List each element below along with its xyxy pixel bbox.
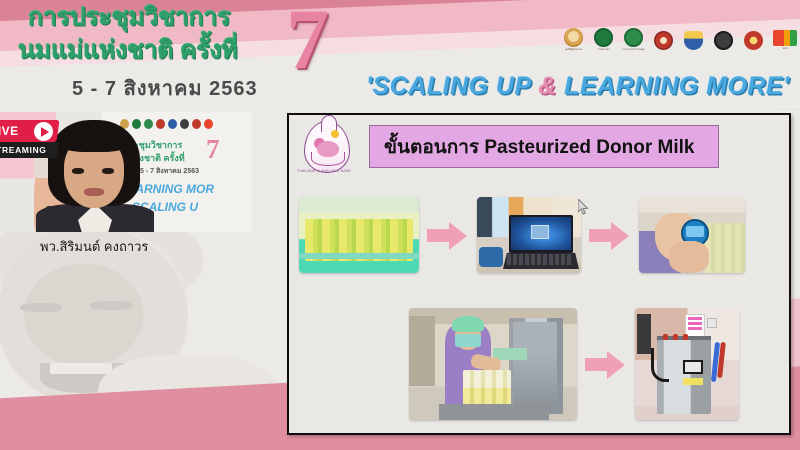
- cradling-hands-icon: [311, 152, 345, 166]
- royal-emblem-logo: [652, 27, 675, 53]
- red-seal-logo: [742, 27, 765, 53]
- conference-tagline: 'SCALING UP & LEARNING MORE': [366, 72, 790, 101]
- photo-temperature-probe: [639, 197, 745, 273]
- streaming-label: STREAMING: [0, 142, 59, 158]
- logo-caption: มูลนิธิศูนย์นมแม่: [565, 48, 582, 52]
- poster-edition-number: 7: [206, 136, 220, 163]
- live-text: LIVE: [0, 124, 19, 138]
- photo-nurse-loading-pasteurizer: [409, 308, 577, 420]
- tagline-prefix: 'SCALING UP: [366, 72, 538, 100]
- conference-header-banner: การประชุมวิชาการ นมแม่แห่งชาติ ครั้งที่ …: [0, 0, 800, 108]
- logo-caption: กรมอนามัย: [598, 48, 610, 52]
- conference-title-line1: การประชุมวิชาการ: [28, 5, 293, 30]
- flow-arrow-2: [589, 220, 631, 250]
- photo-laptop-record: [477, 197, 581, 273]
- royal-patronage-logo: มูลนิธิศูนย์นมแม่: [562, 27, 585, 53]
- live-video-player[interactable]: การประชุมวิชาการ นมแม่แห่งชาติ ครั้งที่ …: [0, 112, 252, 232]
- flow-arrow-3: [585, 349, 627, 379]
- ministry-public-health-logo: กรมอนามัย: [592, 27, 615, 53]
- conference-edition-number: 7: [286, 0, 329, 82]
- flow-arrow-1: [427, 220, 469, 250]
- sponsor-logos: มูลนิธิศูนย์นมแม่ กรมอนามัย กระทรวงสาธาร…: [562, 27, 798, 53]
- process-flow-row-2: [409, 305, 789, 423]
- watermark-eye-left: [20, 303, 62, 312]
- presentation-slide: THAILAND HUMAN MILK BANK ขั้นตอนการ Past…: [287, 113, 791, 435]
- streaming-text: STREAMING: [0, 145, 46, 155]
- slide-title: ขั้นตอนการ Pasteurized Donor Milk: [369, 125, 719, 168]
- logo-caption-text: THAILAND HUMAN MILK BANK: [297, 169, 351, 173]
- human-milk-bank-logo: THAILAND HUMAN MILK BANK: [298, 119, 356, 177]
- health-department-logo: กระทรวงสาธารณสุข: [622, 27, 645, 53]
- mouse-pointer: [578, 199, 589, 215]
- royal-crown-logo: [682, 27, 705, 53]
- watermark-mouth: [40, 363, 124, 393]
- logo-caption: สสส: [783, 47, 787, 51]
- process-flow-row-1: [299, 189, 783, 281]
- photo-milk-bottles-rack: [299, 197, 419, 273]
- tagline-ampersand: &: [538, 72, 557, 100]
- milk-droplet-dot: [331, 130, 339, 138]
- speaker-fringe: [56, 126, 132, 152]
- slide-stage: การประชุมวิชาการ นมแม่แห่งชาติ ครั้งที่ …: [0, 0, 800, 450]
- watermark-teeth: [50, 363, 112, 374]
- black-seal-logo: [712, 27, 735, 53]
- conference-date: 5 - 7 สิงหาคม 2563: [72, 72, 258, 104]
- watermark-eye-right: [90, 301, 132, 310]
- play-icon: [34, 122, 53, 141]
- speaker-name-caption: พว.สิริมนต์ คงถาวร: [40, 236, 148, 257]
- tagline-suffix: LEARNING MORE': [557, 72, 790, 100]
- milk-drop-icon: [304, 121, 350, 173]
- logo-caption: กระทรวงสาธารณสุข: [623, 48, 645, 52]
- conference-title-line2: นมแม่แห่งชาติ ครั้งที่: [18, 38, 298, 63]
- live-streaming-badge: LIVE STREAMING: [0, 120, 58, 162]
- thaihealth-sss-logo: สสส: [772, 27, 798, 53]
- video-poster: การประชุมวิชาการ นมแม่แห่งชาติ ครั้งที่ …: [0, 112, 252, 232]
- photo-pasteurizer-machine: [635, 308, 739, 420]
- speaker-mouth: [84, 188, 104, 196]
